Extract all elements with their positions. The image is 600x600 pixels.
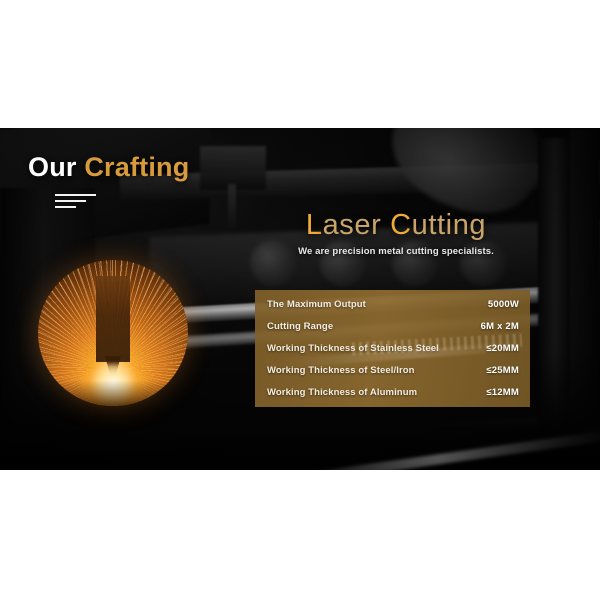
- table-row: Working Thickness of Steel/Iron ≤25MM: [255, 359, 530, 381]
- product-heading-block: Laser Cutting We are precision metal cut…: [256, 211, 536, 257]
- section-heading: Our Crafting: [28, 154, 189, 212]
- spark-bottom-shade: [38, 380, 188, 406]
- spec-value: ≤25MM: [486, 365, 519, 376]
- spec-value: 6M x 2M: [481, 321, 519, 332]
- banner-stage: Our Crafting Laser Cutting We are precis…: [0, 128, 600, 470]
- spec-label: Cutting Range: [267, 321, 333, 332]
- page-title: Our Crafting: [28, 154, 189, 181]
- heading-rule-group: [55, 194, 189, 208]
- product-title-part-2: utting: [412, 209, 487, 241]
- spec-table: The Maximum Output 5000W Cutting Range 6…: [255, 290, 530, 407]
- product-title-cap-l: L: [306, 209, 323, 241]
- spark-laser-head: [96, 276, 130, 362]
- table-row: Working Thickness of Aluminum ≤12MM: [255, 381, 530, 403]
- spec-label: Working Thickness of Aluminum: [267, 387, 417, 398]
- table-row: Working Thickness of Stainless Steel ≤20…: [255, 337, 530, 359]
- page-title-word-primary: Our: [28, 152, 77, 182]
- product-subtitle: We are precision metal cutting specialis…: [256, 246, 536, 257]
- page-title-word-accent: Crafting: [84, 152, 189, 182]
- product-title-cap-c: C: [390, 209, 412, 241]
- product-title-part-1: aser: [323, 209, 390, 241]
- spec-value: ≤20MM: [486, 343, 519, 354]
- heading-rule-line: [55, 200, 86, 202]
- spec-value: 5000W: [488, 299, 519, 310]
- product-title: Laser Cutting: [256, 211, 536, 240]
- spec-label: Working Thickness of Steel/Iron: [267, 365, 415, 376]
- heading-rule-line: [55, 206, 76, 208]
- spec-value: ≤12MM: [486, 387, 519, 398]
- heading-rule-line: [55, 194, 96, 196]
- spark-photo-circle: [38, 260, 188, 406]
- table-row: The Maximum Output 5000W: [255, 293, 530, 315]
- table-row: Cutting Range 6M x 2M: [255, 315, 530, 337]
- spec-label: Working Thickness of Stainless Steel: [267, 343, 439, 354]
- spec-label: The Maximum Output: [267, 299, 366, 310]
